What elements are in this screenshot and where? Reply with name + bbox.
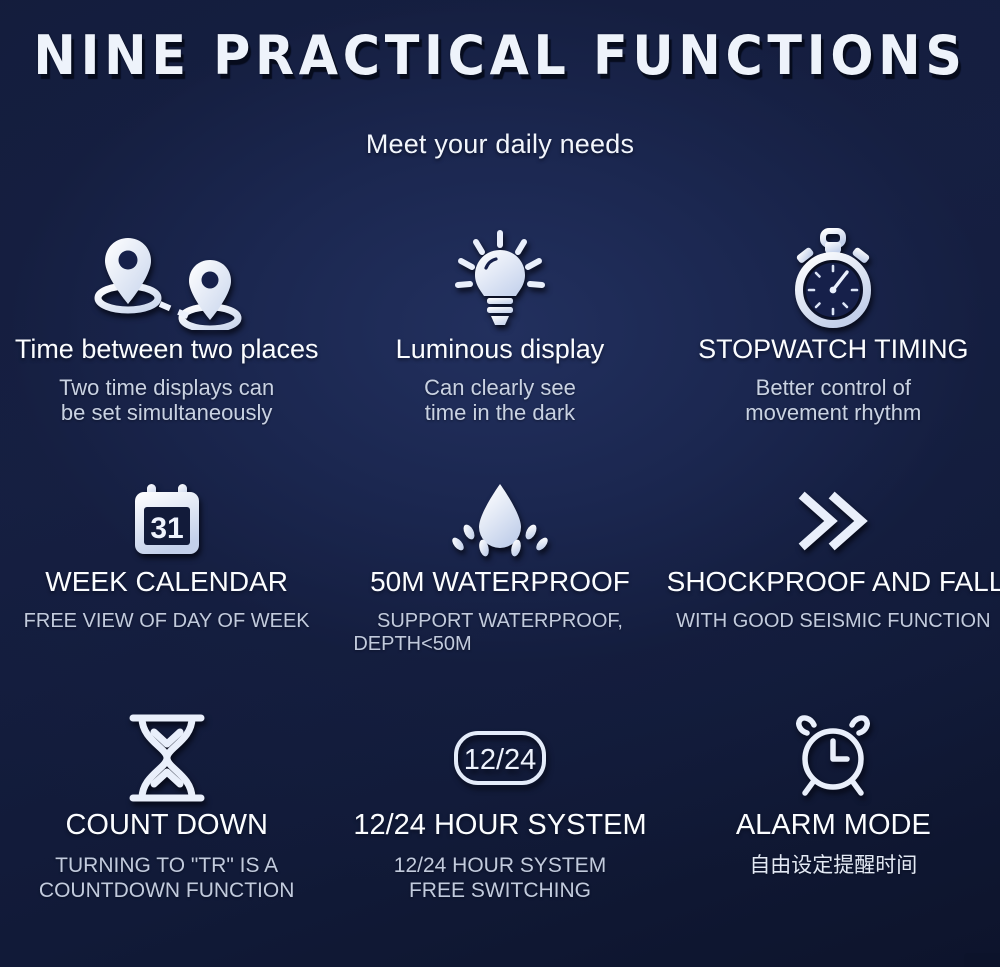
feature-desc: TURNING TO "TR" IS A COUNTDOWN FUNCTION [0, 854, 333, 904]
feature-desc-line-1: Two time displays can [0, 375, 333, 400]
feature-desc-line-1: Better control of [667, 375, 1000, 400]
feature-desc-line-1: 12/24 HOUR SYSTEM [333, 854, 666, 879]
feature-title: SHOCKPROOF AND FALL PROOF [667, 567, 1000, 598]
feature-desc-line-1: FREE VIEW OF DAY OF WEEK [0, 610, 333, 634]
calendar-31-icon: 31 [0, 475, 333, 567]
feature-desc-line-2: COUNTDOWN FUNCTION [0, 879, 333, 904]
feature-stopwatch: STOPWATCH TIMING Better control of movem… [667, 225, 1000, 475]
water-drop-icon [333, 475, 666, 567]
features-row-2: 31 WEEK CALENDAR FREE VIEW OF DAY OF WEE… [0, 475, 1000, 705]
feature-title: STOPWATCH TIMING [667, 335, 1000, 365]
feature-title: Time between two places [0, 335, 333, 365]
feature-dual-time: Time between two places Two time display… [0, 225, 333, 475]
feature-desc-line-1: TURNING TO "TR" IS A [0, 854, 333, 879]
feature-desc: Can clearly see time in the dark [333, 375, 666, 425]
double-chevron-icon [667, 475, 1000, 567]
feature-count-down: COUNT DOWN TURNING TO "TR" IS A COUNTDOW… [0, 705, 333, 955]
features-row-1: Time between two places Two time display… [0, 225, 1000, 475]
badge-label: 12/24 [464, 744, 537, 776]
features-row-3: COUNT DOWN TURNING TO "TR" IS A COUNTDOW… [0, 705, 1000, 955]
page-subtitle: Meet your daily needs [0, 129, 1000, 160]
feature-desc-line-1: 自由设定提醒时间 [667, 854, 1000, 879]
svg-text:31: 31 [150, 512, 183, 545]
feature-alarm: ALARM MODE 自由设定提醒时间 [667, 705, 1000, 955]
map-pins-route-icon [0, 225, 333, 335]
feature-desc: 自由设定提醒时间 [667, 854, 1000, 879]
feature-desc: WITH GOOD SEISMIC FUNCTION [667, 610, 1000, 634]
feature-desc-line-2: FREE SWITCHING [333, 879, 666, 904]
alarm-clock-icon [667, 705, 1000, 810]
feature-desc: Better control of movement rhythm [667, 375, 1000, 425]
page-title: NINE PRACTICAL FUNCTIONS [30, 24, 970, 87]
feature-luminous: Luminous display Can clearly see time in… [333, 225, 666, 475]
feature-desc-line-1: SUPPORT WATERPROOF, [333, 610, 666, 634]
feature-title: ALARM MODE [667, 810, 1000, 842]
feature-hour-system: 12/24 12/24 HOUR SYSTEM 12/24 HOUR SYSTE… [333, 705, 666, 955]
feature-desc-line-1: WITH GOOD SEISMIC FUNCTION [667, 610, 1000, 634]
feature-desc-line-1: Can clearly see [333, 375, 666, 400]
feature-desc: Two time displays can be set simultaneou… [0, 375, 333, 425]
hourglass-icon [0, 705, 333, 810]
feature-desc-line-2: DEPTH<50M [333, 633, 666, 657]
features-grid: Time between two places Two time display… [0, 225, 1000, 955]
feature-week-calendar: 31 WEEK CALENDAR FREE VIEW OF DAY OF WEE… [0, 475, 333, 705]
feature-desc: FREE VIEW OF DAY OF WEEK [0, 610, 333, 634]
feature-desc: SUPPORT WATERPROOF, DEPTH<50M [333, 610, 666, 657]
promo-page: NINE PRACTICAL FUNCTIONS Meet your daily… [0, 0, 1000, 967]
feature-title: Luminous display [333, 335, 666, 365]
feature-title: WEEK CALENDAR [0, 567, 333, 598]
feature-title: 50M WATERPROOF [333, 567, 666, 598]
feature-title: COUNT DOWN [0, 810, 333, 842]
corner-artifact [964, 953, 1000, 967]
feature-desc-line-2: time in the dark [333, 400, 666, 425]
feature-title: 12/24 HOUR SYSTEM [333, 810, 666, 842]
12-24-badge-icon: 12/24 [333, 705, 666, 810]
feature-waterproof: 50M WATERPROOF SUPPORT WATERPROOF, DEPTH… [333, 475, 666, 705]
feature-desc-line-2: be set simultaneously [0, 400, 333, 425]
light-bulb-icon [333, 225, 666, 335]
feature-shockproof: SHOCKPROOF AND FALL PROOF WITH GOOD SEIS… [667, 475, 1000, 705]
feature-desc-line-2: movement rhythm [667, 400, 1000, 425]
stopwatch-icon [667, 225, 1000, 335]
feature-desc: 12/24 HOUR SYSTEM FREE SWITCHING [333, 854, 666, 904]
